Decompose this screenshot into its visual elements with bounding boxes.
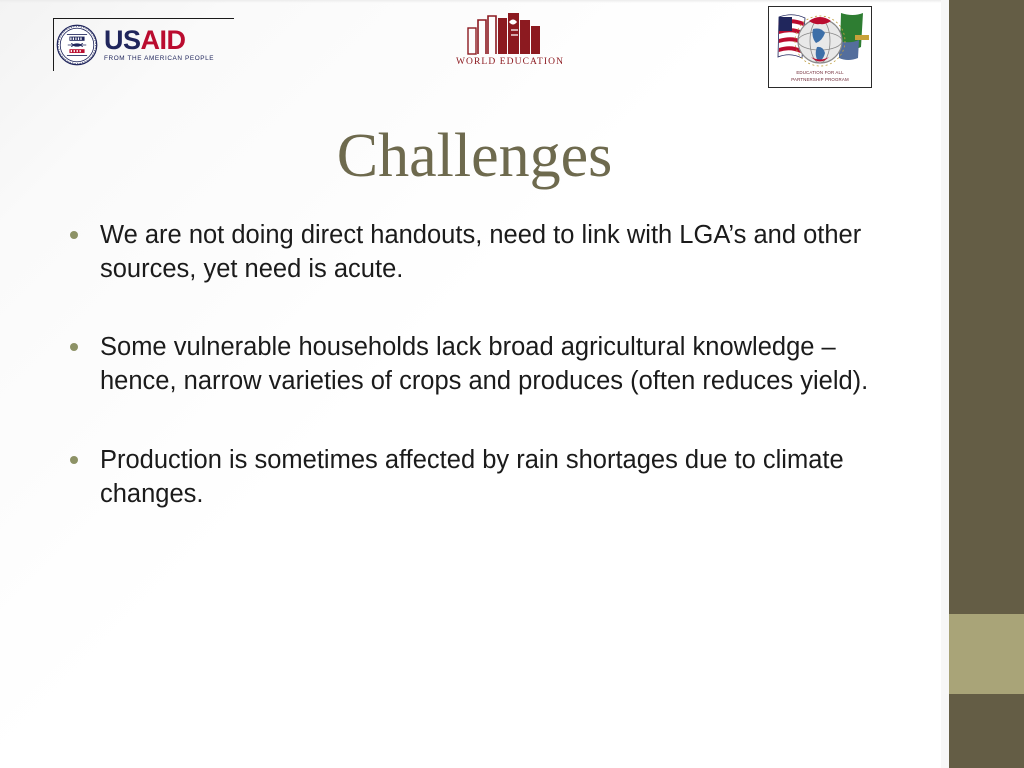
slide-body: We are not doing direct handouts, need t… [62, 218, 907, 511]
usaid-logo: USAID FROM THE AMERICAN PEOPLE [53, 18, 234, 71]
decorative-side-rail [949, 0, 1024, 768]
world-education-logo: WORLD EDUCATION [440, 10, 580, 72]
bullet-item: Some vulnerable households lack broad ag… [62, 330, 907, 398]
partner-globe-logo: EDUCATION FOR ALL PARTNERSHIP PROGRAM [768, 6, 872, 88]
usaid-word-us: US [104, 25, 141, 55]
usaid-tagline: FROM THE AMERICAN PEOPLE [104, 56, 214, 62]
bullet-dot-icon [70, 456, 78, 464]
partner-caption-line-2: PARTNERSHIP PROGRAM [769, 77, 871, 83]
globe-flags-icon [769, 7, 871, 79]
bullet-dot-icon [70, 231, 78, 239]
bullet-item: We are not doing direct handouts, need t… [62, 218, 907, 286]
bullet-item: Production is sometimes affected by rain… [62, 443, 907, 511]
presentation-slide: USAID FROM THE AMERICAN PEOPLE WORLD EDU… [0, 0, 1024, 768]
world-education-books-icon [454, 10, 566, 56]
bullet-text: Some vulnerable households lack broad ag… [100, 330, 907, 398]
partner-logo-caption: EDUCATION FOR ALL PARTNERSHIP PROGRAM [769, 70, 871, 83]
bullet-dot-icon [70, 343, 78, 351]
usaid-word: USAID [104, 27, 214, 54]
bullet-text: Production is sometimes affected by rain… [100, 443, 907, 511]
rail-band-accent [949, 614, 1024, 694]
slide-title: Challenges [0, 124, 949, 188]
bullet-text: We are not doing direct handouts, need t… [100, 218, 907, 286]
rail-band-top [949, 0, 1024, 614]
usaid-seal-icon [56, 24, 98, 66]
usaid-wordmark: USAID FROM THE AMERICAN PEOPLE [104, 27, 214, 62]
world-education-text: WORLD EDUCATION [440, 57, 580, 67]
slide-gutter [941, 0, 949, 768]
usaid-word-aid: AID [141, 25, 186, 55]
rail-band-bottom [949, 694, 1024, 768]
